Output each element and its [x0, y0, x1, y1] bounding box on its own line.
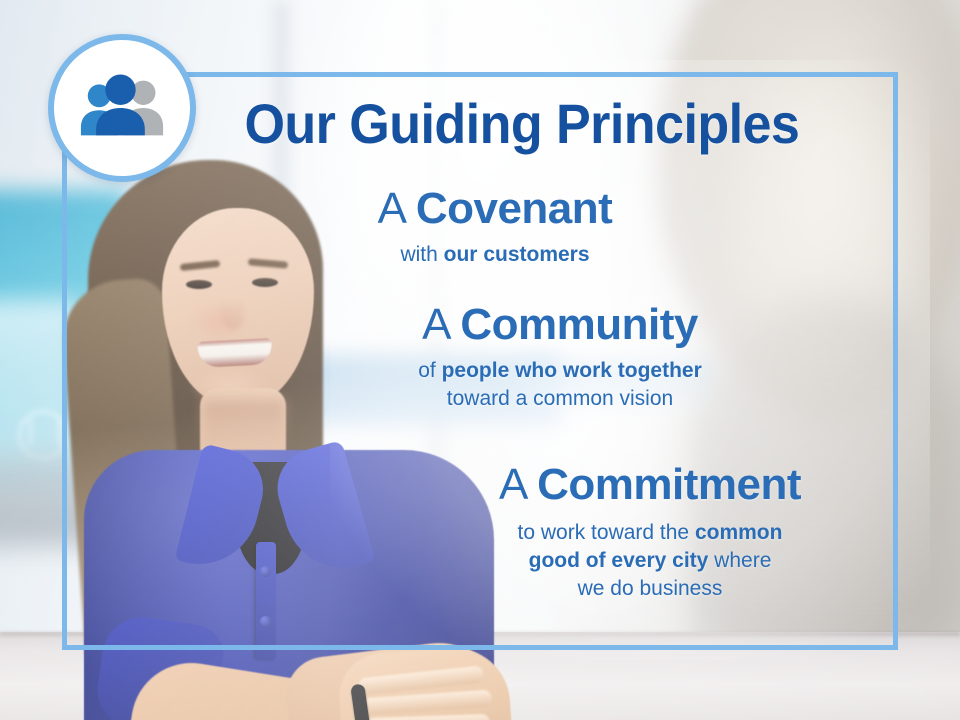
- principle-commitment-subtext: to work toward the common good of every …: [410, 519, 890, 602]
- subtext-line: with our customers: [255, 241, 735, 269]
- principle-keyword: Community: [460, 300, 698, 349]
- principle-article: A: [378, 184, 416, 233]
- employee-eye: [186, 280, 212, 289]
- principle-covenant-subtext: with our customers: [255, 241, 735, 269]
- subtext-line: we do business: [410, 575, 890, 603]
- employee-eye: [252, 278, 278, 287]
- subtext-span: with: [400, 243, 443, 266]
- principle-covenant: A Covenant with our customers: [255, 186, 735, 269]
- subtext-span: of: [418, 359, 441, 382]
- principle-community-heading: A Community: [320, 302, 800, 348]
- principle-keyword: Covenant: [416, 184, 612, 233]
- shirt-button: [260, 566, 271, 577]
- subtext-line: toward a common vision: [320, 385, 800, 413]
- subtext-span: we do business: [578, 577, 723, 600]
- guiding-principles-banner: FLOW FLOW: [0, 0, 960, 720]
- people-group-icon-badge: [48, 34, 196, 182]
- subtext-span: toward a common vision: [447, 387, 673, 410]
- subtext-line: good of every city where: [410, 547, 890, 575]
- people-group-icon: [76, 73, 168, 143]
- principle-covenant-heading: A Covenant: [255, 186, 735, 232]
- subtext-span-bold: common: [695, 521, 783, 544]
- subtext-line: to work toward the common: [410, 519, 890, 547]
- employee-nose: [222, 300, 244, 330]
- principle-community: A Community of people who work together …: [320, 302, 800, 413]
- subtext-span: to work toward the: [518, 521, 695, 544]
- principle-community-subtext: of people who work together toward a com…: [320, 357, 800, 412]
- employee-neck-shadow: [202, 400, 286, 452]
- subtext-span-bold: our customers: [444, 243, 590, 266]
- subtext-span-bold: good of every city: [529, 549, 709, 572]
- principle-commitment-heading: A Commitment: [410, 462, 890, 508]
- shirt-button: [260, 616, 271, 627]
- principle-article: A: [499, 460, 537, 509]
- principle-article: A: [422, 300, 460, 349]
- page-title: Our Guiding Principles: [215, 96, 829, 152]
- employee-shirt-placket: [256, 542, 276, 660]
- subtext-span-bold: people who work together: [442, 359, 702, 382]
- principle-commitment: A Commitment to work toward the common g…: [410, 462, 890, 602]
- subtext-span: where: [708, 549, 771, 572]
- subtext-line: of people who work together: [320, 357, 800, 385]
- principle-keyword: Commitment: [537, 460, 801, 509]
